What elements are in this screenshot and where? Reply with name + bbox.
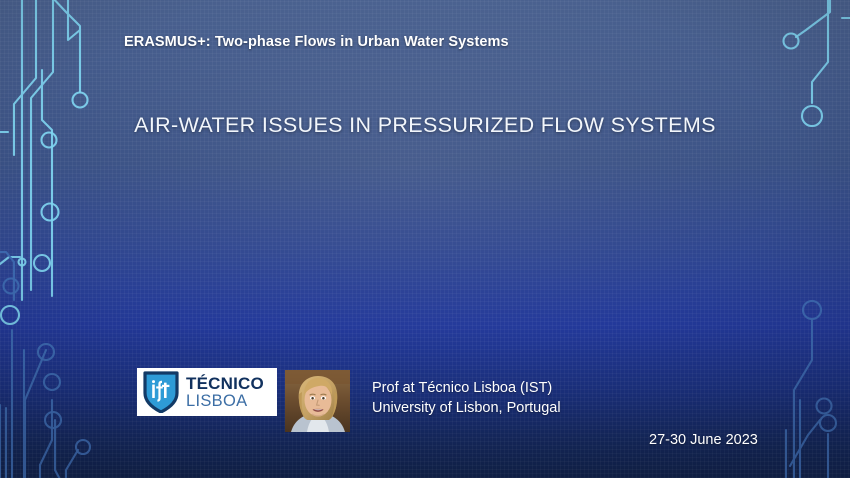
presentation-slide: ERASMUS+: Two-phase Flows in Urban Water…: [0, 0, 850, 478]
ist-shield-icon: [143, 371, 179, 413]
circuit-trace-decoration-left: [0, 0, 120, 478]
ist-tecnico-lisboa-logo: TÉCNICO LISBOA: [137, 368, 277, 416]
circuit-trace-decoration-right: [750, 0, 850, 478]
affiliation-line-1: Prof at Técnico Lisboa (IST): [372, 378, 561, 398]
event-date: 27-30 June 2023: [649, 432, 758, 448]
logo-text-tecnico: TÉCNICO: [186, 375, 264, 392]
affiliation-line-2: University of Lisbon, Portugal: [372, 398, 561, 418]
speaker-affiliation: Prof at Técnico Lisboa (IST) University …: [372, 378, 561, 418]
logo-text-lisboa: LISBOA: [186, 393, 264, 410]
speaker-portrait-photo: [285, 370, 350, 432]
slide-main-title: AIR-WATER ISSUES IN PRESSURIZED FLOW SYS…: [0, 113, 850, 138]
slide-header-course-title: ERASMUS+: Two-phase Flows in Urban Water…: [124, 34, 509, 50]
